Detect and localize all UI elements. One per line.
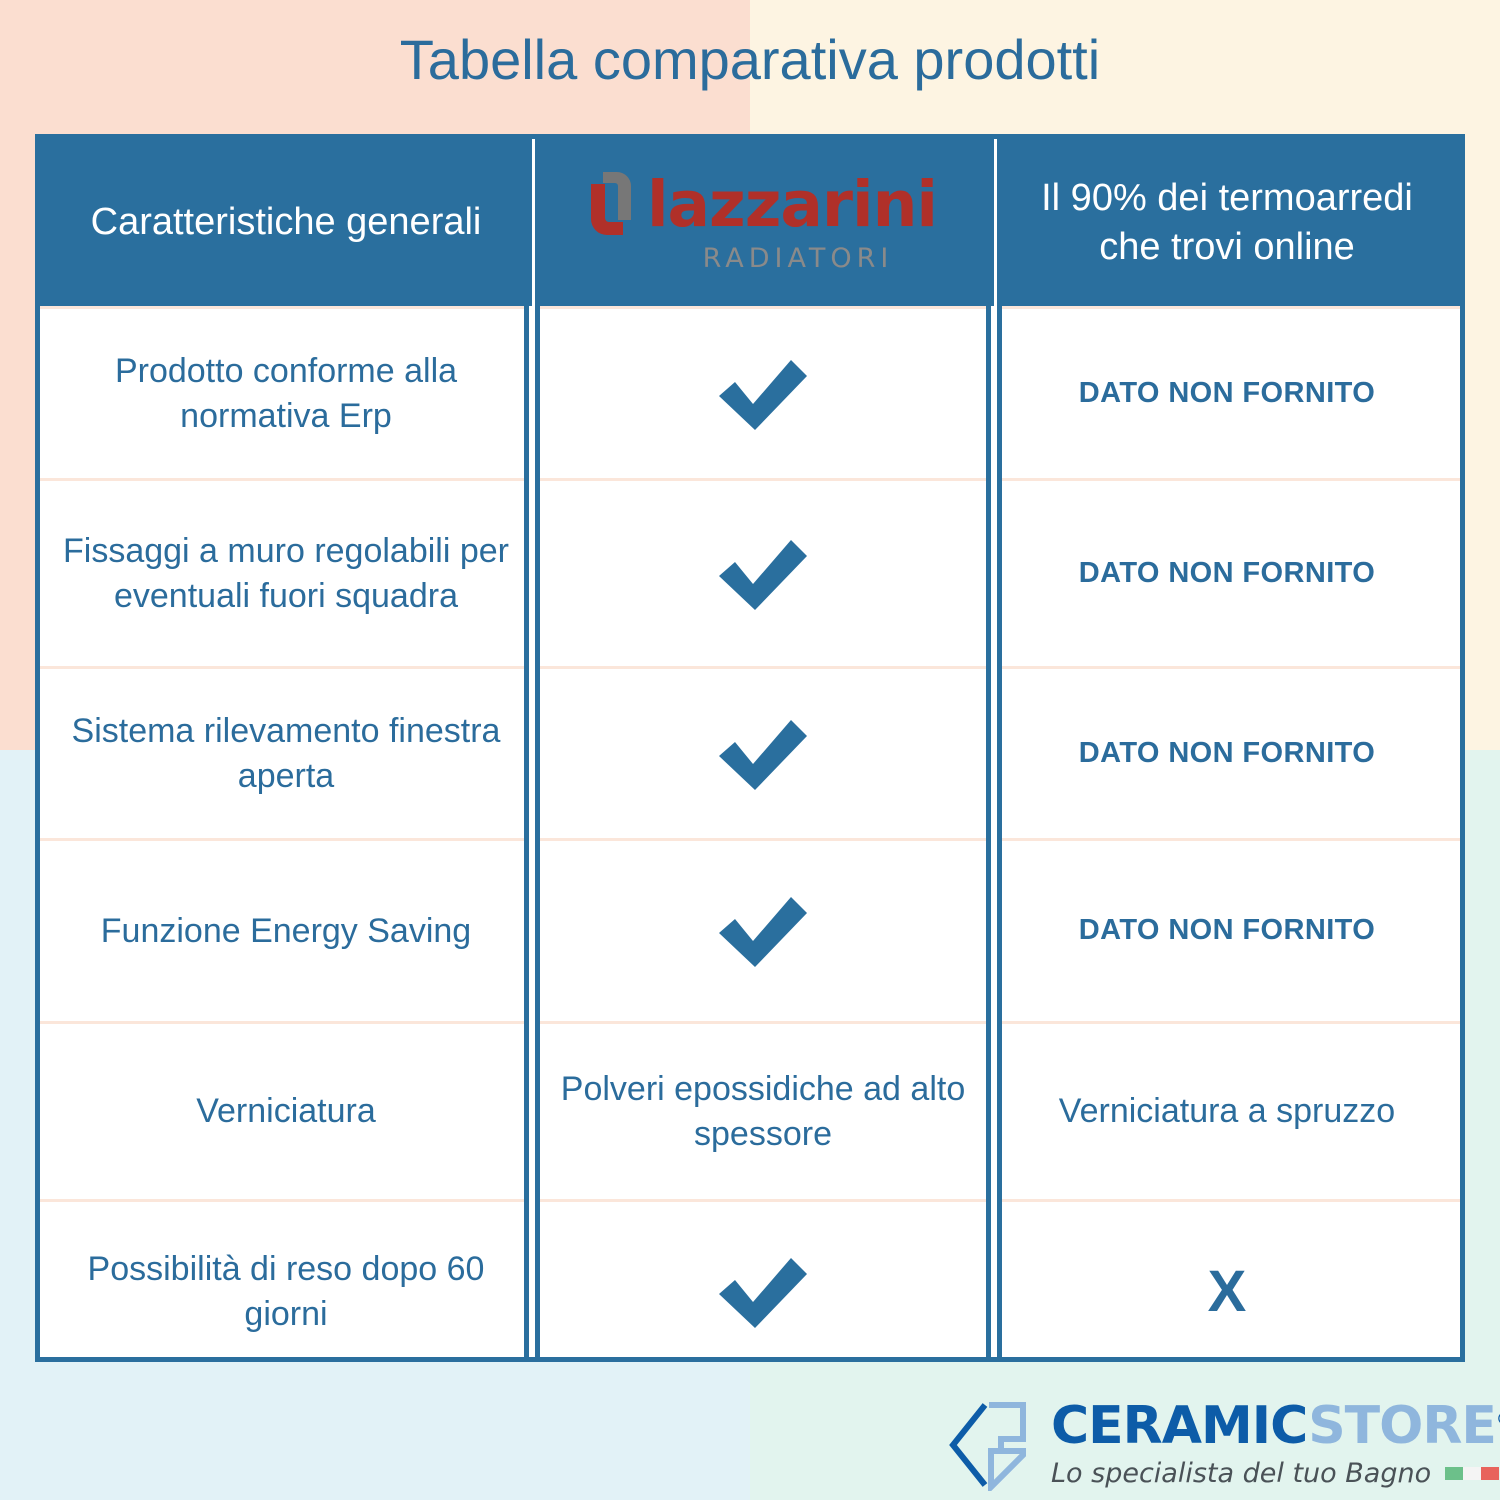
table-row: Possibilità di reso dopo 60 giorni X (40, 1199, 1460, 1381)
brand-cell (532, 841, 994, 1021)
feature-cell: Sistema rilevamento finestra aperta (40, 669, 532, 838)
italian-flag-icon (1445, 1467, 1499, 1480)
header-cell-competitor: Il 90% dei termoarredi che trovi online (994, 139, 1460, 306)
header-divider-1 (532, 139, 535, 306)
brand-cell (532, 309, 994, 478)
feature-cell: Verniciatura (40, 1024, 532, 1199)
table-row: Fissaggi a muro regolabili per eventuali… (40, 478, 1460, 666)
brand-cell (532, 481, 994, 666)
competitor-cell: Verniciatura a spruzzo (994, 1024, 1460, 1199)
table-row: Sistema rilevamento finestra aperta DATO… (40, 666, 1460, 838)
check-icon (711, 714, 815, 794)
check-icon (711, 1252, 815, 1332)
table-row: Funzione Energy Saving DATO NON FORNITO (40, 838, 1460, 1021)
check-icon (711, 891, 815, 971)
lazzarini-logo: lazzarini RADIATORI (589, 168, 937, 277)
lazzarini-mark-icon (589, 168, 647, 240)
brand-cell (532, 1202, 994, 1381)
wordmark-primary: CERAMIC (1051, 1396, 1308, 1456)
comparison-table: Caratteristiche generali lazzarini RADIA… (35, 134, 1465, 1362)
ceramicstore-text: CERAMICSTORE® Lo specialista del tuo Bag… (1051, 1400, 1500, 1489)
brand-cell (532, 669, 994, 838)
ceramicstore-logo[interactable]: CERAMICSTORE® Lo specialista del tuo Bag… (945, 1392, 1465, 1497)
header-cell-brand: lazzarini RADIATORI (532, 139, 994, 306)
lazzarini-logo-top: lazzarini (589, 168, 937, 240)
table-row: Verniciatura Polveri epossidiche ad alto… (40, 1021, 1460, 1199)
table-header-row: Caratteristiche generali lazzarini RADIA… (40, 139, 1460, 306)
header-divider-2 (994, 139, 997, 306)
wordmark-secondary: STORE (1308, 1396, 1496, 1456)
ceramicstore-tagline-row: Lo specialista del tuo Bagno (1051, 1458, 1500, 1489)
ceramicstore-wordmark: CERAMICSTORE® (1051, 1400, 1500, 1452)
check-icon (711, 534, 815, 614)
registered-trademark-icon: ® (1496, 1410, 1500, 1430)
lazzarini-wordmark: lazzarini (647, 173, 937, 236)
check-icon (711, 354, 815, 434)
ceramicstore-tagline: Lo specialista del tuo Bagno (1051, 1458, 1431, 1489)
brand-cell: Polveri epossidiche ad alto spessore (532, 1024, 994, 1199)
competitor-cell: DATO NON FORNITO (994, 669, 1460, 838)
table-row: Prodotto conforme alla normativa Erp DAT… (40, 306, 1460, 478)
ceramicstore-mark-icon (945, 1399, 1037, 1491)
header-cell-features: Caratteristiche generali (40, 139, 532, 306)
feature-cell: Fissaggi a muro regolabili per eventuali… (40, 481, 532, 666)
competitor-cell: DATO NON FORNITO (994, 309, 1460, 478)
column-separator-2 (986, 306, 1002, 1357)
feature-cell: Possibilità di reso dopo 60 giorni (40, 1202, 532, 1381)
page-title: Tabella comparativa prodotti (0, 28, 1500, 92)
comparison-table-infographic: Tabella comparativa prodotti Caratterist… (0, 0, 1500, 1500)
feature-cell: Funzione Energy Saving (40, 841, 532, 1021)
competitor-cell: DATO NON FORNITO (994, 481, 1460, 666)
competitor-cell: DATO NON FORNITO (994, 841, 1460, 1021)
x-icon: X (1208, 1263, 1247, 1321)
feature-cell: Prodotto conforme alla normativa Erp (40, 309, 532, 478)
column-separator-1 (524, 306, 540, 1357)
lazzarini-subtitle: RADIATORI (703, 242, 894, 277)
competitor-cell: X (994, 1202, 1460, 1381)
